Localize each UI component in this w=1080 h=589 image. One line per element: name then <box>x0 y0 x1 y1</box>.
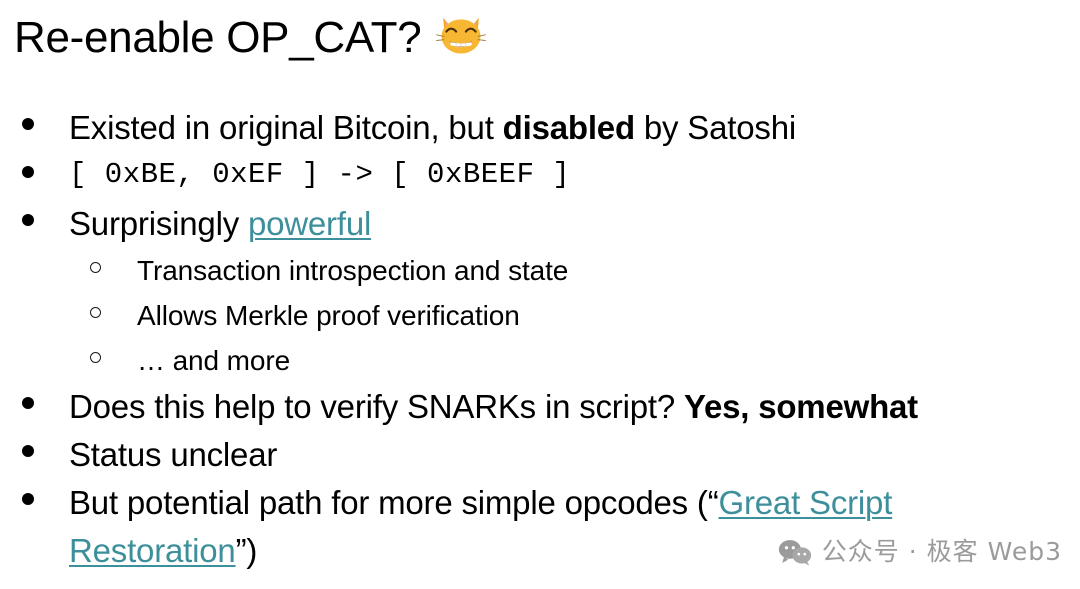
bullet-marker-filled <box>22 200 69 226</box>
bullet-marker-hollow <box>90 293 137 318</box>
bullet-marker-hollow <box>90 248 137 273</box>
list-item: Status unclear <box>0 431 1080 479</box>
bullet-marker-filled <box>22 104 69 130</box>
slide: Re-enable OP_CAT? Exist <box>0 0 1080 589</box>
list-item: Surprisingly powerful <box>0 200 1080 248</box>
bullet-marker-hollow <box>90 338 137 363</box>
bullet-marker-filled <box>22 479 69 505</box>
sub-list-item: … and more <box>0 338 1080 383</box>
list-item-text: Existed in original Bitcoin, but disable… <box>69 104 1080 152</box>
page-title: Re-enable OP_CAT? <box>14 8 487 67</box>
sub-list-item-text: Transaction introspection and state <box>137 248 1080 293</box>
text-segment-bold: Yes, somewhat <box>684 388 918 425</box>
wechat-icon <box>778 538 812 566</box>
text-segment: by Satoshi <box>635 109 796 146</box>
watermark-text: 公众号 · 极客 Web3 <box>822 537 1062 567</box>
list-item: Existed in original Bitcoin, but disable… <box>0 104 1080 152</box>
bullet-marker-filled <box>22 383 69 409</box>
list-item: Does this help to verify SNARKs in scrip… <box>0 383 1080 431</box>
list-item-text: Does this help to verify SNARKs in scrip… <box>69 383 1080 431</box>
text-segment: But potential path for more simple opcod… <box>69 484 719 521</box>
list-item-text: Surprisingly powerful <box>69 200 1080 248</box>
bullet-marker-filled <box>22 152 69 178</box>
list-item-text: Status unclear <box>69 431 1080 479</box>
sub-list-item: Allows Merkle proof verification <box>0 293 1080 338</box>
text-segment: ”) <box>236 532 258 569</box>
bullet-list: Existed in original Bitcoin, but disable… <box>0 104 1080 575</box>
link-powerful[interactable]: powerful <box>248 205 371 242</box>
list-item-code-text: [ 0xBE, 0xEF ] -> [ 0xBEEF ] <box>69 152 1080 198</box>
text-segment: Does this help to verify SNARKs in scrip… <box>69 388 684 425</box>
sub-list-item-text: Allows Merkle proof verification <box>137 293 1080 338</box>
bullet-marker-filled <box>22 431 69 457</box>
text-segment: Existed in original Bitcoin, but <box>69 109 503 146</box>
text-segment-bold: disabled <box>503 109 635 146</box>
grinning-cat-emoji <box>435 6 487 65</box>
watermark: 公众号 · 极客 Web3 <box>778 537 1062 567</box>
list-item: [ 0xBE, 0xEF ] -> [ 0xBEEF ] <box>0 152 1080 200</box>
sub-list-item: Transaction introspection and state <box>0 248 1080 293</box>
page-title-text: Re-enable OP_CAT? <box>14 9 421 67</box>
sub-list-item-text: … and more <box>137 338 1080 383</box>
text-segment: Surprisingly <box>69 205 248 242</box>
